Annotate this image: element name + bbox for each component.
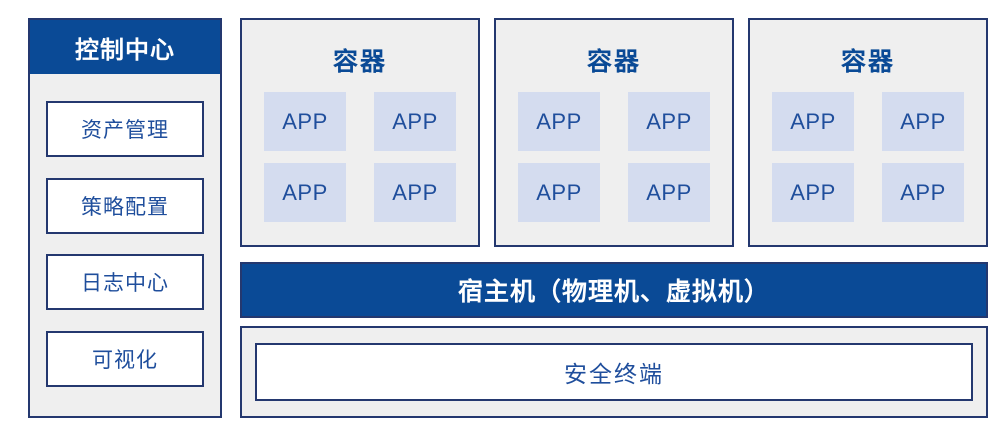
host-machine-bar: 宿主机（物理机、虚拟机）: [240, 262, 988, 318]
security-terminal-box: 安全终端: [255, 343, 973, 401]
app-grid: APP APP APP APP: [264, 92, 456, 222]
control-center-item-list: 资产管理 策略配置 日志中心 可视化: [30, 74, 220, 416]
control-center-item-policy-config[interactable]: 策略配置: [46, 178, 204, 234]
app-grid: APP APP APP APP: [518, 92, 710, 222]
control-center-item-label: 资产管理: [81, 114, 169, 144]
control-center-item-label: 可视化: [92, 344, 158, 374]
security-terminal-panel: 安全终端: [240, 326, 988, 418]
app-box: APP: [772, 163, 854, 222]
app-box: APP: [882, 163, 964, 222]
control-center-header: 控制中心: [30, 20, 220, 74]
app-grid: APP APP APP APP: [772, 92, 964, 222]
control-center-item-log-center[interactable]: 日志中心: [46, 254, 204, 310]
app-box: APP: [374, 163, 456, 222]
app-box: APP: [628, 163, 710, 222]
control-center-item-label: 日志中心: [81, 267, 169, 297]
app-box: APP: [628, 92, 710, 151]
app-box: APP: [772, 92, 854, 151]
app-box: APP: [518, 92, 600, 151]
container-panel-title: 容器: [587, 42, 641, 78]
container-panel-title: 容器: [841, 42, 895, 78]
container-panel-title: 容器: [333, 42, 387, 78]
container-panel: 容器 APP APP APP APP: [494, 18, 734, 247]
control-center-item-visualization[interactable]: 可视化: [46, 331, 204, 387]
control-center-item-label: 策略配置: [81, 191, 169, 221]
app-box: APP: [264, 163, 346, 222]
app-box: APP: [882, 92, 964, 151]
container-panel: 容器 APP APP APP APP: [748, 18, 988, 247]
app-box: APP: [264, 92, 346, 151]
app-box: APP: [518, 163, 600, 222]
container-panel: 容器 APP APP APP APP: [240, 18, 480, 247]
architecture-diagram: 控制中心 资产管理 策略配置 日志中心 可视化 容器 APP APP APP A…: [0, 0, 1001, 437]
control-center-panel: 控制中心 资产管理 策略配置 日志中心 可视化: [28, 18, 222, 418]
app-box: APP: [374, 92, 456, 151]
control-center-item-asset-management[interactable]: 资产管理: [46, 101, 204, 157]
